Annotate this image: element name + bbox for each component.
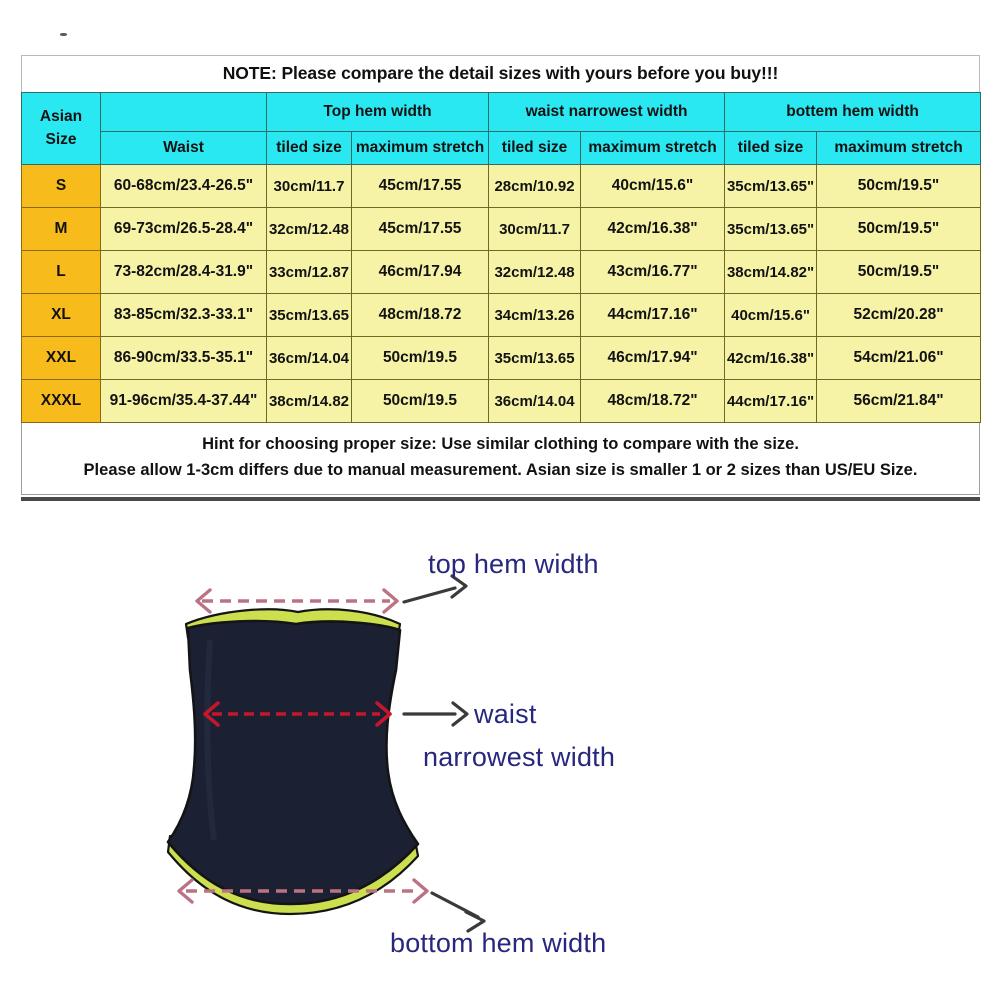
cell-waist-tiled: 35cm/13.65	[489, 337, 581, 380]
cell-waist-max: 44cm/17.16"	[581, 294, 725, 337]
header-group-waist-narrowest: waist narrowest width	[489, 93, 725, 132]
size-table: Asian Size Top hem width waist narrowest…	[21, 92, 981, 423]
cell-top-tiled: 36cm/14.04	[267, 337, 352, 380]
cell-top-tiled: 30cm/11.7	[267, 165, 352, 208]
table-bottom-rule	[21, 497, 980, 501]
cell-waist: 86-90cm/33.5-35.1"	[101, 337, 267, 380]
cell-waist-max: 40cm/15.6"	[581, 165, 725, 208]
hint-box: Hint for choosing proper size: Use simil…	[21, 423, 980, 495]
header-asian-size-line2: Size	[45, 131, 76, 148]
label-narrowest-width: narrowest width	[423, 742, 615, 773]
cell-bottom-max: 56cm/21.84"	[817, 380, 981, 423]
cell-waist: 60-68cm/23.4-26.5"	[101, 165, 267, 208]
header-row-subs: Waist tiled size maximum stretch tiled s…	[22, 132, 981, 165]
table-row: L 73-82cm/28.4-31.9" 33cm/12.87 46cm/17.…	[22, 251, 981, 294]
cell-waist: 69-73cm/26.5-28.4"	[101, 208, 267, 251]
cell-waist-tiled: 28cm/10.92	[489, 165, 581, 208]
cell-bottom-max: 52cm/20.28"	[817, 294, 981, 337]
cell-top-tiled: 35cm/13.65	[267, 294, 352, 337]
hint-line-2: Please allow 1-3cm differs due to manual…	[22, 458, 979, 484]
cell-bottom-max: 54cm/21.06"	[817, 337, 981, 380]
header-sub-bottom-tiled: tiled size	[725, 132, 817, 165]
cell-top-max: 45cm/17.55	[352, 165, 489, 208]
label-bottom-hem-width: bottom hem width	[390, 928, 606, 959]
waist-callout	[404, 703, 467, 725]
label-waist: waist	[474, 699, 537, 730]
cell-waist-max: 48cm/18.72"	[581, 380, 725, 423]
cell-top-tiled: 32cm/12.48	[267, 208, 352, 251]
row-size-label: XXXL	[22, 380, 101, 423]
size-table-body: S 60-68cm/23.4-26.5" 30cm/11.7 45cm/17.5…	[22, 165, 981, 423]
cell-bottom-max: 50cm/19.5"	[817, 165, 981, 208]
cell-waist-tiled: 36cm/14.04	[489, 380, 581, 423]
cell-top-max: 45cm/17.55	[352, 208, 489, 251]
header-sub-waist-max: maximum stretch	[581, 132, 725, 165]
row-size-label: XXL	[22, 337, 101, 380]
header-asian-size: Asian Size	[22, 93, 101, 165]
row-size-label: S	[22, 165, 101, 208]
cell-top-max: 50cm/19.5	[352, 337, 489, 380]
cell-waist: 91-96cm/35.4-37.44"	[101, 380, 267, 423]
row-size-label: XL	[22, 294, 101, 337]
cell-bottom-tiled: 40cm/15.6"	[725, 294, 817, 337]
cell-bottom-tiled: 42cm/16.38"	[725, 337, 817, 380]
note-banner: NOTE: Please compare the detail sizes wi…	[21, 55, 980, 92]
header-sub-top-tiled: tiled size	[267, 132, 352, 165]
bottom-hem-callout	[432, 893, 484, 931]
cell-top-tiled: 33cm/12.87	[267, 251, 352, 294]
top-hem-measure-arrow	[197, 590, 397, 612]
cell-waist-tiled: 32cm/12.48	[489, 251, 581, 294]
table-row: S 60-68cm/23.4-26.5" 30cm/11.7 45cm/17.5…	[22, 165, 981, 208]
table-row: XXL 86-90cm/33.5-35.1" 36cm/14.04 50cm/1…	[22, 337, 981, 380]
cell-bottom-tiled: 44cm/17.16"	[725, 380, 817, 423]
table-row: M 69-73cm/26.5-28.4" 32cm/12.48 45cm/17.…	[22, 208, 981, 251]
header-sub-bottom-max: maximum stretch	[817, 132, 981, 165]
cell-bottom-max: 50cm/19.5"	[817, 208, 981, 251]
cell-waist-max: 43cm/16.77"	[581, 251, 725, 294]
cell-waist-tiled: 34cm/13.26	[489, 294, 581, 337]
header-group-top-hem: Top hem width	[267, 93, 489, 132]
header-sub-waist-tiled: tiled size	[489, 132, 581, 165]
cell-bottom-max: 50cm/19.5"	[817, 251, 981, 294]
header-group-bottom-hem: bottem hem width	[725, 93, 981, 132]
label-top-hem-width: top hem width	[428, 549, 599, 580]
cell-bottom-tiled: 35cm/13.65"	[725, 165, 817, 208]
cell-bottom-tiled: 35cm/13.65"	[725, 208, 817, 251]
cell-waist-max: 42cm/16.38"	[581, 208, 725, 251]
header-asian-size-line1: Asian	[40, 108, 82, 125]
cell-top-max: 46cm/17.94	[352, 251, 489, 294]
size-table-head: Asian Size Top hem width waist narrowest…	[22, 93, 981, 165]
cell-waist-max: 46cm/17.94"	[581, 337, 725, 380]
row-size-label: L	[22, 251, 101, 294]
table-row: XL 83-85cm/32.3-33.1" 35cm/13.65 48cm/18…	[22, 294, 981, 337]
header-sub-top-max: maximum stretch	[352, 132, 489, 165]
cell-top-max: 50cm/19.5	[352, 380, 489, 423]
table-row: XXXL 91-96cm/35.4-37.44" 38cm/14.82 50cm…	[22, 380, 981, 423]
row-size-label: M	[22, 208, 101, 251]
cell-waist: 73-82cm/28.4-31.9"	[101, 251, 267, 294]
header-sub-waist: Waist	[101, 132, 267, 165]
size-chart-block: NOTE: Please compare the detail sizes wi…	[21, 55, 980, 501]
header-row-groups: Asian Size Top hem width waist narrowest…	[22, 93, 981, 132]
hint-line-1: Hint for choosing proper size: Use simil…	[22, 432, 979, 458]
image-speck-artifact	[60, 33, 67, 36]
cell-top-max: 48cm/18.72	[352, 294, 489, 337]
cell-top-tiled: 38cm/14.82	[267, 380, 352, 423]
header-group-waist-blank	[101, 93, 267, 132]
cell-waist: 83-85cm/32.3-33.1"	[101, 294, 267, 337]
cell-waist-tiled: 30cm/11.7	[489, 208, 581, 251]
note-text: NOTE: Please compare the detail sizes wi…	[223, 63, 778, 83]
cell-bottom-tiled: 38cm/14.82"	[725, 251, 817, 294]
